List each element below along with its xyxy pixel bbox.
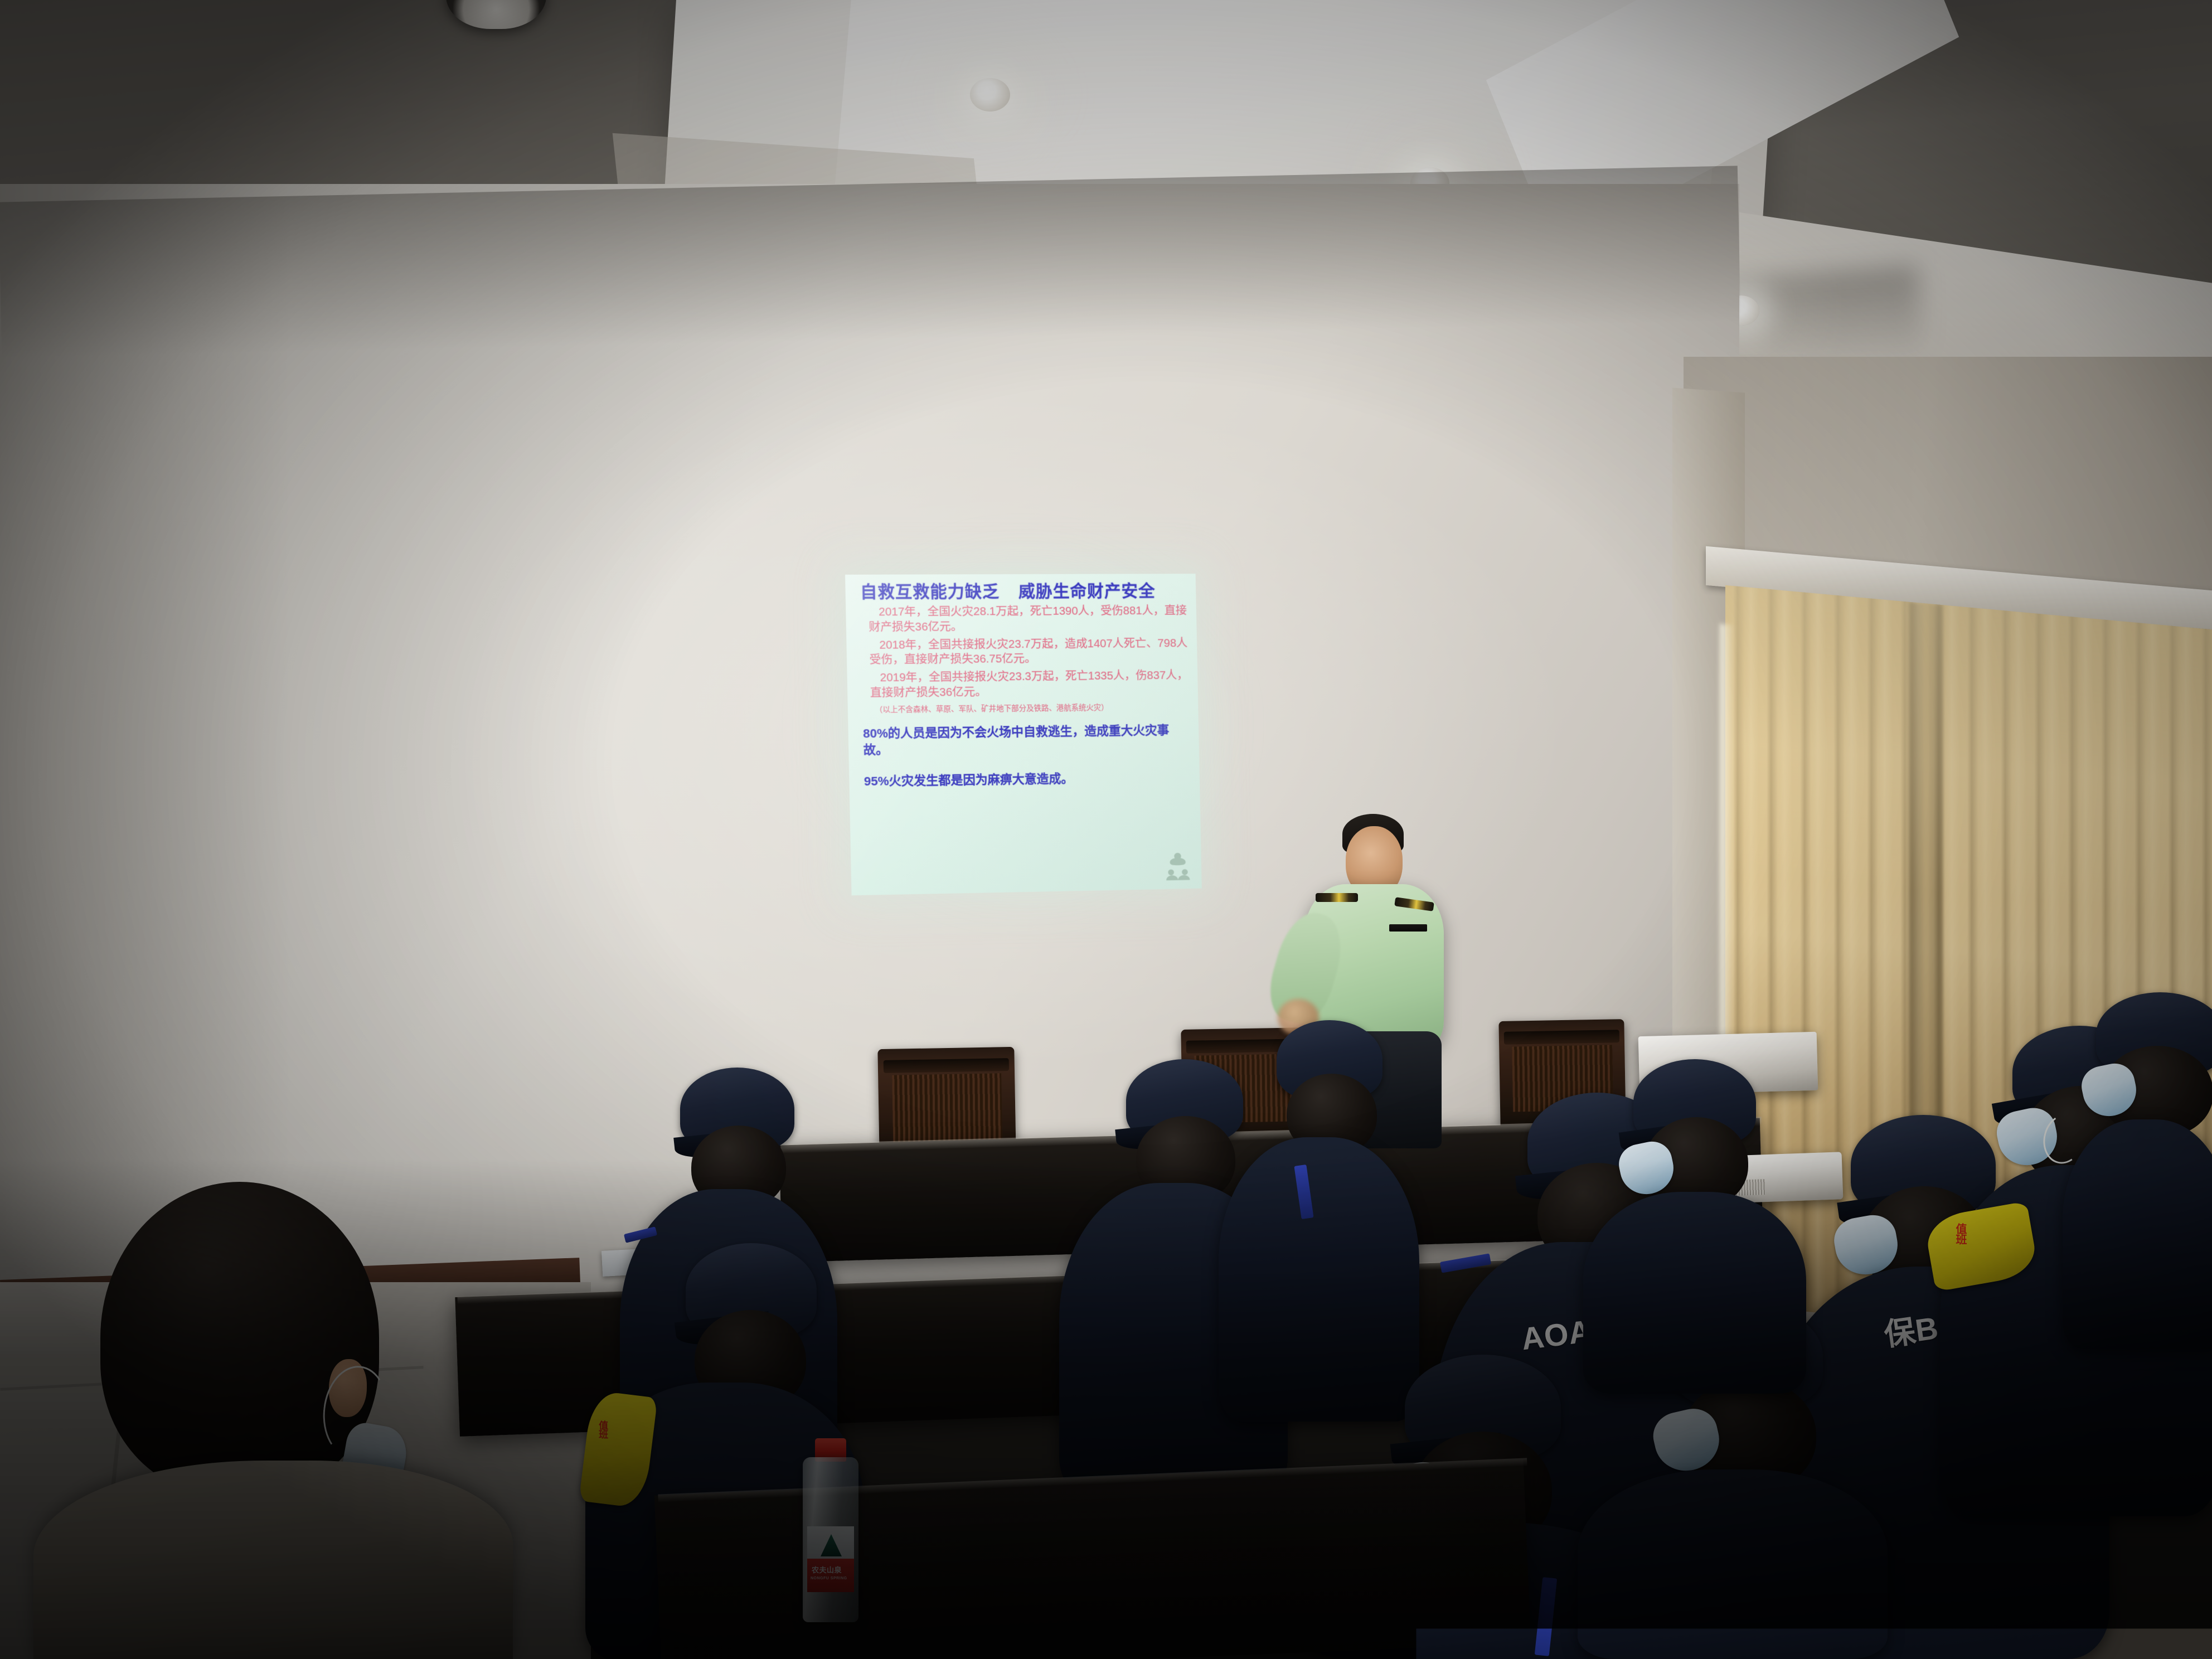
audience-guard-11 <box>1583 1059 1806 1394</box>
downlight-1 <box>970 78 1010 111</box>
presenter-epaulette-left <box>1316 893 1358 902</box>
chair-top-rail <box>883 1058 1009 1073</box>
water-bottle[interactable]: 农夫山泉 NONGFU SPRING <box>803 1438 858 1622</box>
slide-title: 自救互救能力缺乏威胁生命财产安全 <box>860 581 1187 603</box>
curtain-light-glow <box>1725 585 2212 920</box>
presenter-name-tag <box>1389 924 1427 932</box>
slide-paragraph-2017: 2017年，全国火灾28.1万起，死亡1390人，受伤881人，直接财产损失36… <box>861 604 1188 635</box>
slide-title-left: 自救互救能力缺乏 <box>860 583 1000 601</box>
slide-highlight-80: 80%的人员是因为不会火场中自救逃生，造成重大火灾事故。 <box>863 722 1190 758</box>
guard-body <box>1583 1192 1806 1394</box>
meeting-room-photo: 自救互救能力缺乏威胁生命财产安全 2017年，全国火灾28.1万起，死亡1390… <box>0 0 2212 1659</box>
guard-lanyard <box>1440 1253 1491 1273</box>
slide-title-right: 威胁生命财产安全 <box>1018 582 1156 601</box>
chair-slats <box>892 1073 1002 1142</box>
slide-watermark-icon <box>1163 850 1193 882</box>
guard-body <box>2063 1119 2212 1349</box>
guard-armband-text: 值班 <box>1954 1223 1965 1244</box>
bottle-brand-zh: 农夫山泉 <box>812 1564 842 1575</box>
slide-paragraph-2019: 2019年，全国共接报火灾23.3万起，死亡1335人，伤837人，直接财产损失… <box>862 668 1189 701</box>
bottle-label-lower <box>807 1559 854 1592</box>
foreground-attendee <box>33 1182 513 1659</box>
attendee-shoulders <box>33 1461 513 1659</box>
bottle-brand-en: NONGFU SPRING <box>811 1576 847 1580</box>
chair-top-rail <box>1504 1030 1619 1044</box>
slide-highlight-95: 95%火灾发生都是因为麻痹大意造成。 <box>864 769 1191 789</box>
projected-slide: 自救互救能力缺乏威胁生命财产安全 2017年，全国火灾28.1万起，死亡1390… <box>845 574 1202 895</box>
wall-left-shading <box>0 184 290 1310</box>
guard-armband-text: 值班 <box>598 1420 607 1438</box>
audience-guard-8 <box>2063 992 2212 1349</box>
slide-footnote: （以上不含森林、草原、军队、矿井地下部分及铁路、港航系统火灾） <box>875 702 1189 715</box>
slide-paragraph-2018: 2018年，全国共接报火灾23.7万起，造成1407人死亡、798人受伤，直接财… <box>861 636 1189 668</box>
guard-body <box>1578 1469 1888 1659</box>
